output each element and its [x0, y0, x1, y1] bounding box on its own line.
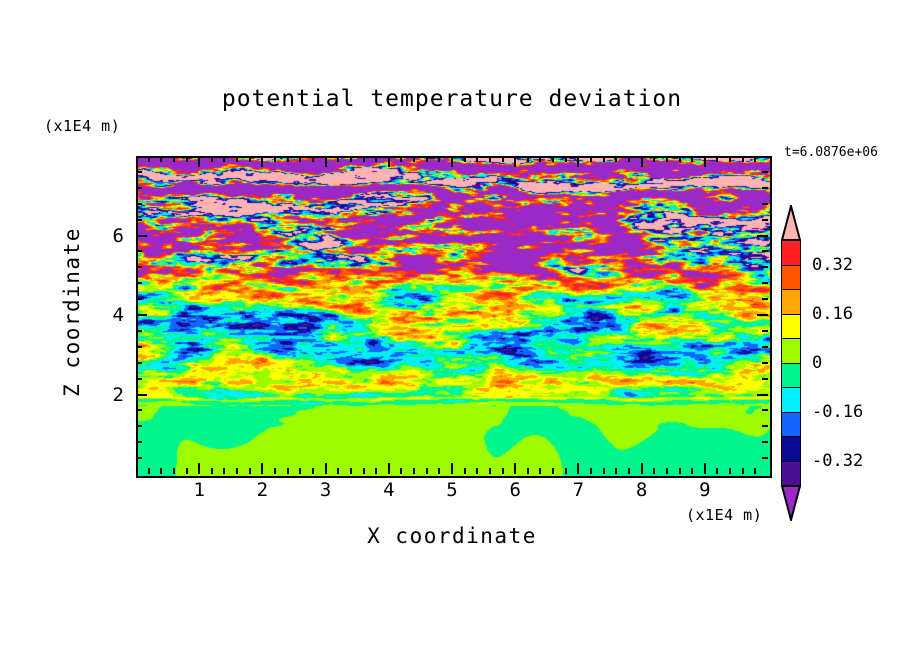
- colorbar-band: [781, 314, 801, 340]
- colorbar-band: [781, 338, 801, 364]
- y-tick-label: 2: [98, 384, 124, 406]
- x-tick-label: 3: [320, 479, 331, 501]
- colorbar-band: [781, 289, 801, 315]
- x-tick-label: 5: [446, 479, 457, 501]
- colorbar-band: [781, 387, 801, 413]
- x-tick-label: 6: [509, 479, 520, 501]
- time-annotation: t=6.0876e+06: [784, 145, 878, 160]
- colorbar-tick-label: 0.32: [812, 255, 853, 275]
- colorbar-tick-label: -0.16: [812, 402, 863, 422]
- colorbar-band: [781, 461, 801, 487]
- y-axis-label: Z coordinate: [60, 212, 84, 412]
- colorbar-band: [781, 265, 801, 291]
- colorbar: [781, 205, 801, 520]
- contour-field: [138, 158, 770, 476]
- figure-title: potential temperature deviation: [0, 86, 904, 112]
- contour-figure: potential temperature deviation (x1E4 m)…: [0, 0, 904, 654]
- y-tick-label: 6: [98, 225, 124, 247]
- colorbar-tick-label: 0.16: [812, 304, 853, 324]
- x-tick-label: 8: [636, 479, 647, 501]
- x-axis-unit-label: (x1E4 m): [686, 506, 762, 524]
- x-tick-label: 2: [257, 479, 268, 501]
- colorbar-tick-label: -0.32: [812, 451, 863, 471]
- x-tick-label: 7: [573, 479, 584, 501]
- colorbar-band: [781, 363, 801, 389]
- y-tick-label: 4: [98, 304, 124, 326]
- colorbar-band: [781, 436, 801, 462]
- colorbar-band: [781, 240, 801, 266]
- x-tick-label: 9: [699, 479, 710, 501]
- colorbar-tick-label: 0: [812, 353, 822, 373]
- plot-area: [136, 156, 772, 478]
- x-tick-label: 1: [193, 479, 204, 501]
- z-axis-unit-label: (x1E4 m): [44, 117, 120, 135]
- colorbar-under-arrow: [781, 485, 801, 520]
- colorbar-band: [781, 412, 801, 438]
- x-axis-label: X coordinate: [0, 524, 904, 548]
- colorbar-over-arrow: [781, 205, 801, 240]
- x-tick-label: 4: [383, 479, 394, 501]
